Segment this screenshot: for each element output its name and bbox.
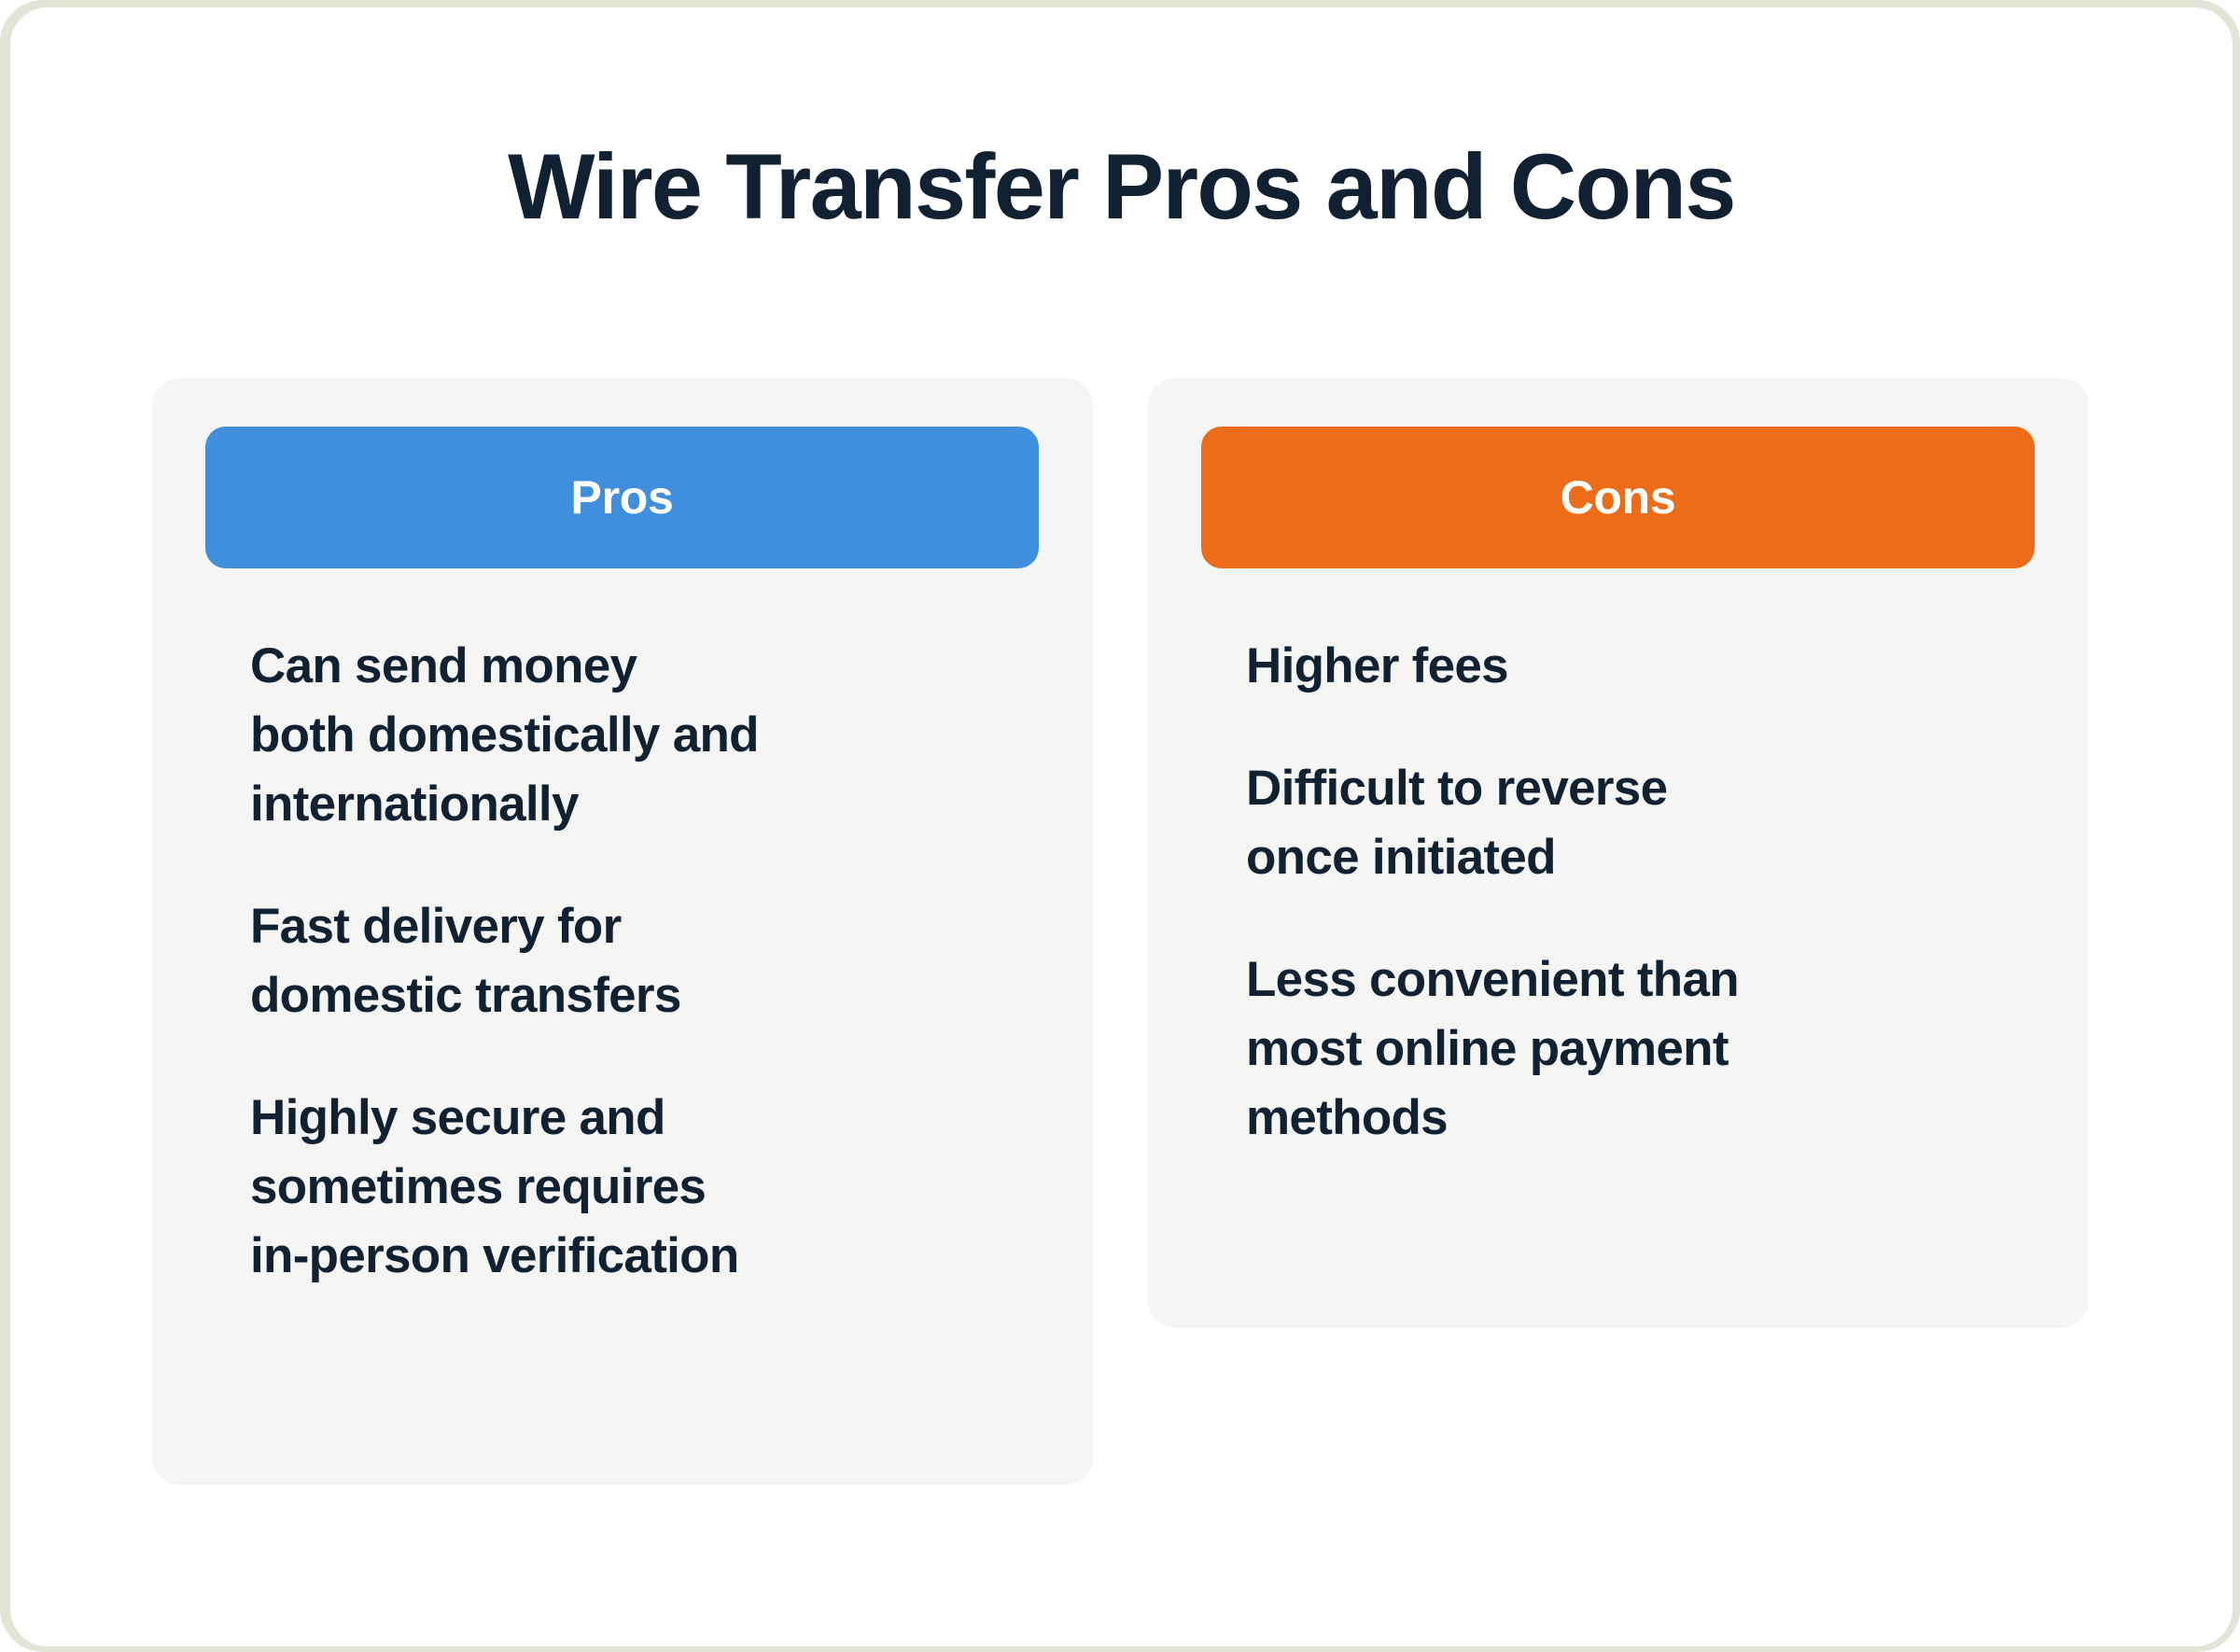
outer-frame: Wire Transfer Pros and Cons Pros Can sen… [0, 0, 2240, 1652]
page-title: Wire Transfer Pros and Cons [10, 135, 2233, 238]
list-item: Highly secure and sometimes requires in-… [250, 1084, 1034, 1291]
pros-panel: Pros Can send money both domestically an… [152, 378, 1093, 1485]
cons-panel: Cons Higher fees Difficult to reverse on… [1148, 378, 2089, 1328]
list-item: Can send money both domestically and int… [250, 632, 1034, 839]
content-card: Wire Transfer Pros and Cons Pros Can sen… [10, 7, 2233, 1646]
list-item: Difficult to reverse once initiated [1246, 754, 2030, 892]
list-item: Higher fees [1246, 632, 2030, 701]
pros-header-label: Pros [571, 470, 674, 525]
pros-list: Can send money both domestically and int… [250, 632, 1034, 1291]
cons-header-pill: Cons [1201, 427, 2035, 568]
list-item: Fast delivery for domestic transfers [250, 892, 1034, 1030]
pros-header-pill: Pros [205, 427, 1039, 568]
list-item: Less convenient than most online payment… [1246, 945, 2030, 1153]
cons-header-label: Cons [1561, 470, 1676, 525]
cons-list: Higher fees Difficult to reverse once in… [1246, 632, 2030, 1153]
